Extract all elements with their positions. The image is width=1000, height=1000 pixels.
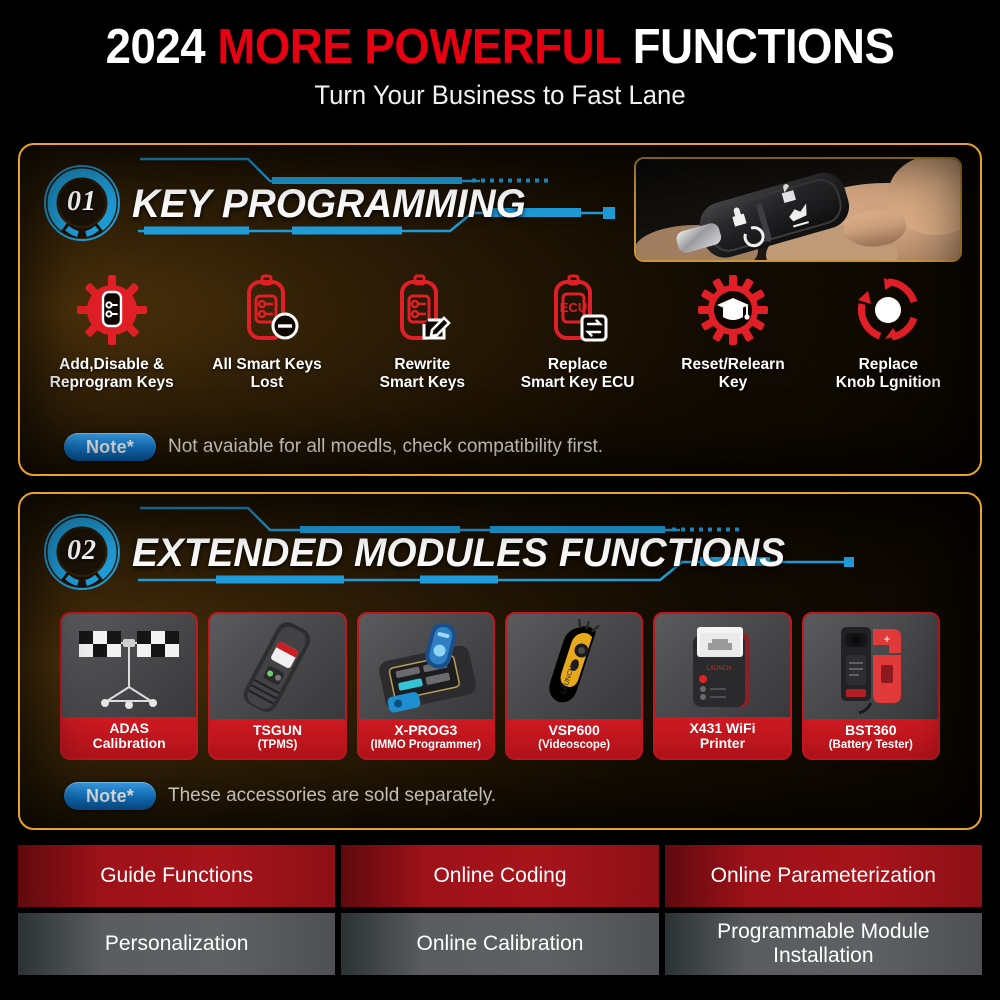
page-title: 2024 MORE POWERFUL FUNCTIONS [35,22,965,73]
product-caption: ADAS Calibration [62,717,196,758]
section-2-number: 02 [42,512,122,592]
product-card[interactable]: + BST360 (Battery Tester) [802,612,940,760]
key-fob-ecu-swap-icon: ECU [542,273,614,347]
product-caption: X431 WiFi Printer [655,717,789,758]
svg-text:ECU: ECU [559,300,586,315]
vsp600-videoscope-icon: LAUNCH [507,614,641,719]
key-fob-minus-icon [231,273,303,347]
section-1-badge: 01 [42,163,122,243]
x-prog3-programmer-icon [359,614,493,719]
function-label: Replace Knob Lgnition [836,356,941,393]
key-function-list: Add,Disable & Reprogram Keys [34,273,966,393]
section-extended-modules: 02 EXTENDED MODULES FUNCTIONS [18,492,982,830]
grid-cell-online-parameterization[interactable]: Online Parameterization [665,845,982,907]
svg-text:LAUNCH: LAUNCH [707,666,732,672]
knob-ignition-cycle-icon [852,273,924,347]
function-grid: Guide Functions Online Coding Online Par… [18,845,982,975]
section-1-note: Note* Not avaiable for all moedls, check… [64,433,603,461]
section-2-badge: 02 [42,512,122,592]
page-subtitle: Turn Your Business to Fast Lane [25,80,975,111]
function-item[interactable]: Replace Knob Lgnition [811,273,966,393]
promo-page: 2024 MORE POWERFUL FUNCTIONS Turn Your B… [0,0,1000,1000]
function-item[interactable]: Rewrite Smart Keys [345,273,500,393]
function-grid-row: Guide Functions Online Coding Online Par… [18,845,982,907]
title-year: 2024 [106,20,206,74]
note-badge: Note* [64,433,156,461]
function-grid-row: Personalization Online Calibration Progr… [18,913,982,975]
function-item[interactable]: All Smart Keys Lost [189,273,344,393]
section-1-title: KEY PROGRAMMING [132,173,526,235]
grid-cell-online-coding[interactable]: Online Coding [341,845,658,907]
x431-wifi-printer-icon: LAUNCH [655,614,789,717]
note-text: Not avaiable for all moedls, check compa… [168,436,603,458]
key-fob-photo [634,157,962,262]
function-label: Rewrite Smart Keys [380,356,465,393]
product-card[interactable]: TSGUN (TPMS) [208,612,346,760]
product-caption: BST360 (Battery Tester) [804,719,938,758]
grid-cell-guide-functions[interactable]: Guide Functions [18,845,335,907]
function-label: Add,Disable & Reprogram Keys [50,356,174,393]
svg-text:+: + [883,632,890,646]
function-label: Reset/Relearn Key [681,356,784,393]
key-fob-pencil-icon [386,273,458,347]
grid-cell-programmable-module-installation[interactable]: Programmable Module Installation [665,913,982,975]
section-2-title: EXTENDED MODULES FUNCTIONS [132,522,785,584]
note-badge: Note* [64,782,156,810]
gear-key-fob-icon [76,273,148,347]
grid-cell-personalization[interactable]: Personalization [18,913,335,975]
function-item[interactable]: Reset/Relearn Key [655,273,810,393]
product-card[interactable]: ADAS Calibration [60,612,198,760]
product-card[interactable]: LAUNCH VSP600 (Videoscope) [505,612,643,760]
function-item[interactable]: Add,Disable & Reprogram Keys [34,273,189,393]
product-caption: VSP600 (Videoscope) [507,719,641,758]
section-1-number: 01 [42,163,122,243]
function-label: All Smart Keys Lost [212,356,321,393]
product-caption: X-PROG3 (IMMO Programmer) [359,719,493,758]
section-2-note: Note* These accessories are sold separat… [64,782,496,810]
product-card[interactable]: LAUNCH X431 WiFi Printer [653,612,791,760]
gear-graduation-cap-icon [697,273,769,347]
note-text: These accessories are sold separately. [168,785,496,807]
section-2-header: 02 EXTENDED MODULES FUNCTIONS [20,494,980,598]
title-emphasis: MORE POWERFUL [217,20,620,74]
tsgun-tpms-tool-icon [210,614,344,719]
bst360-battery-tester-icon: + [804,614,938,719]
product-card-list: ADAS Calibration [60,612,940,760]
function-item[interactable]: ECU Replace Smart Key ECU [500,273,655,393]
title-tail: FUNCTIONS [633,20,895,74]
adas-calibration-frame-icon [62,614,196,717]
product-caption: TSGUN (TPMS) [210,719,344,758]
section-1-header: 01 KEY PROGRAMMING [20,145,980,249]
page-header: 2024 MORE POWERFUL FUNCTIONS Turn Your B… [0,0,1000,111]
section-key-programming: 01 KEY PROGRAMMING [18,143,982,476]
function-label: Replace Smart Key ECU [521,356,635,393]
product-card[interactable]: X-PROG3 (IMMO Programmer) [357,612,495,760]
grid-cell-online-calibration[interactable]: Online Calibration [341,913,658,975]
